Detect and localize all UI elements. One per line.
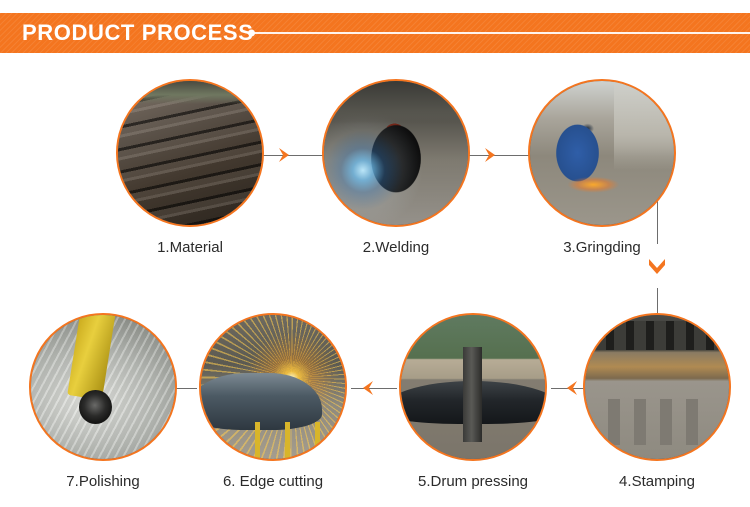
page-title: PRODUCT PROCESS <box>22 20 253 46</box>
photo-stack-of-steel-plates <box>118 81 262 225</box>
step-label-4: 4.Stamping <box>619 473 695 490</box>
step-label-3: 3.Gringding <box>563 239 641 256</box>
step-photo-circle <box>528 79 676 227</box>
step-photo-circle <box>116 79 264 227</box>
step-photo-circle <box>199 313 347 461</box>
step-6-edge-cutting[interactable]: 6. Edge cutting <box>199 313 347 461</box>
photo-drum-pressing <box>401 315 545 459</box>
step-label-7: 7.Polishing <box>66 473 139 490</box>
step-label-5: 5.Drum pressing <box>418 473 528 490</box>
connector-line-1-2 <box>262 155 330 156</box>
step-label-1: 1.Material <box>157 239 223 256</box>
step-photo-circle <box>399 313 547 461</box>
step-photo-circle <box>583 313 731 461</box>
photo-polishing-machine <box>31 315 175 459</box>
step-label-6: 6. Edge cutting <box>223 473 323 490</box>
arrow-left-icon-1 <box>560 377 582 399</box>
step-7-polishing[interactable]: 7.Polishing <box>29 313 177 461</box>
arrow-right-icon-2 <box>480 144 502 166</box>
header-rule <box>254 32 750 34</box>
photo-worker-grinding <box>530 81 674 225</box>
step-3-grinding[interactable]: 3.Gringding <box>528 79 676 227</box>
photo-worker-welding <box>324 81 468 225</box>
photo-edge-cutting-sparks <box>201 315 345 459</box>
step-label-2: 2.Welding <box>363 239 429 256</box>
step-photo-circle <box>322 79 470 227</box>
header-banner: PRODUCT PROCESS <box>0 13 750 53</box>
connector-line-3-4-lower <box>657 288 658 314</box>
arrow-right-icon-1 <box>274 144 296 166</box>
arrow-left-icon-2 <box>356 377 378 399</box>
chevron-down-icon <box>646 255 668 277</box>
connector-line-2-3 <box>468 155 536 156</box>
step-2-welding[interactable]: 2.Welding <box>322 79 470 227</box>
step-5-drum-pressing[interactable]: 5.Drum pressing <box>399 313 547 461</box>
photo-stamping-die <box>585 315 729 459</box>
step-1-material[interactable]: 1.Material <box>116 79 264 227</box>
product-process-infographic: PRODUCT PROCESS 1.Material 2. <box>0 0 750 507</box>
step-4-stamping[interactable]: 4.Stamping <box>583 313 731 461</box>
step-photo-circle <box>29 313 177 461</box>
